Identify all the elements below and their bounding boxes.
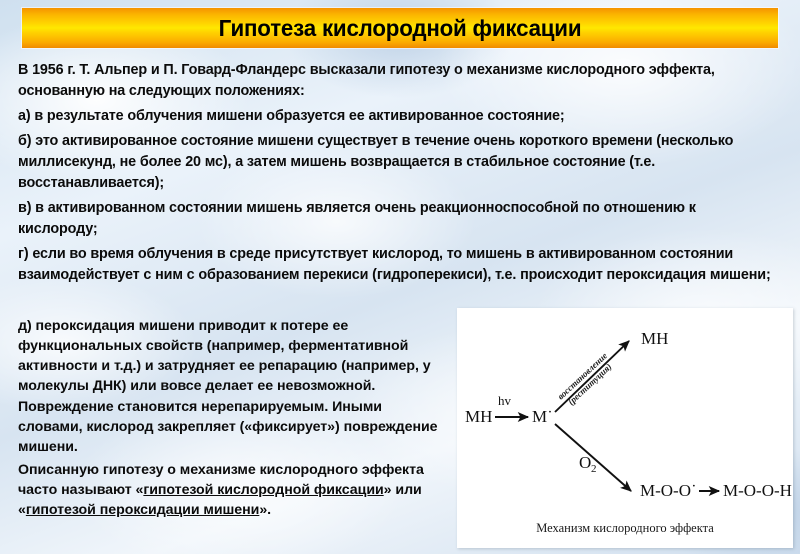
slide-title-bar: Гипотеза кислородной фиксации bbox=[22, 8, 778, 48]
oxygen-effect-diagram: MH hv M˙ восстановление (реституция) MH … bbox=[457, 308, 793, 548]
conclusion-paragraph: Описанную гипотезу о механизме кислородн… bbox=[18, 460, 442, 520]
body-paragraph-v: в) в активированном состоянии мишень явл… bbox=[18, 198, 774, 240]
term-target-peroxidation: гипотезой пероксидации мишени bbox=[26, 502, 259, 518]
label-restoration: восстановление (реституция) bbox=[556, 350, 617, 409]
label-oxygen-symbol: O bbox=[579, 453, 591, 472]
diagram-caption: Механизм кислородного эффекта bbox=[536, 521, 714, 535]
slide-canvas: Гипотеза кислородной фиксации В 1956 г. … bbox=[0, 0, 800, 554]
body-paragraph-b: б) это активированное состояние мишени с… bbox=[18, 131, 774, 194]
label-photon: hv bbox=[498, 393, 512, 408]
node-radical: M˙ bbox=[532, 407, 553, 426]
body-paragraph-a: а) в результате облучения мишени образуе… bbox=[18, 106, 774, 127]
node-peroxide-radical: M-O-O˙ bbox=[640, 481, 697, 500]
body-text-block: В 1956 г. Т. Альпер и П. Говард-Фландерс… bbox=[18, 60, 786, 290]
node-hydroperoxide: M-O-O-H bbox=[723, 481, 792, 500]
page-title: Гипотеза кислородной фиксации bbox=[219, 15, 582, 42]
body-paragraph-g: г) если во время облучения в среде прису… bbox=[18, 244, 774, 286]
conclusion-end: ». bbox=[259, 502, 271, 518]
left-column-text: д) пероксидация мишени приводит к потере… bbox=[18, 316, 442, 524]
label-oxygen-subscript: 2 bbox=[591, 463, 597, 475]
label-oxygen: O 2 bbox=[579, 453, 597, 475]
node-start-mh: MH bbox=[465, 407, 492, 426]
arrow-oxygenation bbox=[555, 424, 631, 491]
oxygen-effect-diagram-panel: MH hv M˙ восстановление (реституция) MH … bbox=[457, 308, 793, 548]
term-oxygen-fixation: гипотезой кислородной фиксации bbox=[143, 482, 383, 498]
body-paragraph-intro: В 1956 г. Т. Альпер и П. Говард-Фландерс… bbox=[18, 60, 774, 102]
body-paragraph-d: д) пероксидация мишени приводит к потере… bbox=[18, 316, 442, 457]
node-restored-mh: MH bbox=[641, 329, 668, 348]
